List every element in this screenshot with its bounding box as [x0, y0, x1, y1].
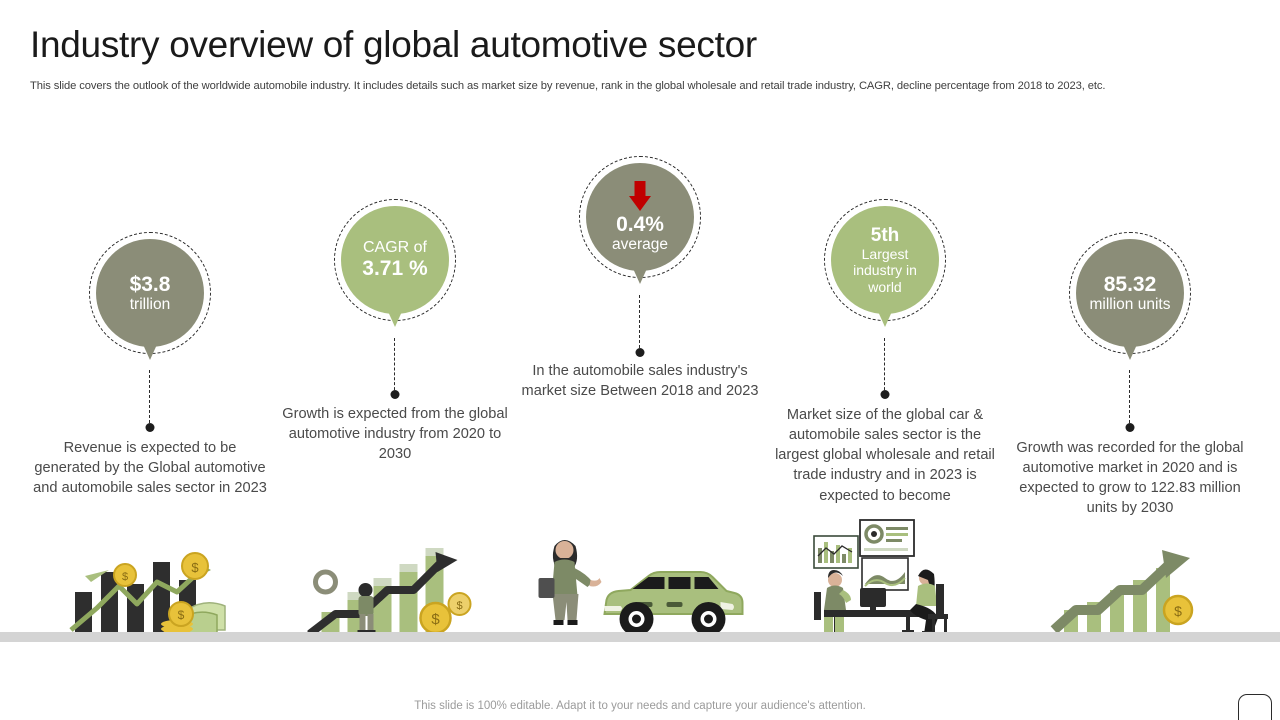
- balloon-value: 3.71 %: [362, 257, 427, 281]
- connector-units: [1129, 370, 1131, 428]
- svg-text:$: $: [456, 600, 462, 612]
- footer-note: This slide is 100% editable. Adapt it to…: [0, 700, 1280, 712]
- connector-dot-icon: [391, 390, 400, 399]
- corner-decoration-icon: [1238, 694, 1272, 720]
- balloon-unit: million units: [1087, 296, 1173, 313]
- connector-dot-icon: [881, 390, 890, 399]
- balloon-tail-icon: [141, 340, 159, 360]
- illustration-green-bar-chart-upward-arrow-coin-icon: $: [1050, 548, 1210, 639]
- connector-dot-icon: [1126, 423, 1135, 432]
- balloon-revenue-2023[interactable]: $3.8 trillion: [96, 239, 204, 347]
- balloon-unit: average: [612, 236, 668, 253]
- description-units: Growth was recorded for the global autom…: [1010, 438, 1250, 519]
- description-decline: In the automobile sales industry's marke…: [520, 361, 760, 401]
- connector-rank: [884, 338, 886, 395]
- column-decline-average: 0.4% average In the automobile sales ind…: [515, 0, 765, 720]
- balloon-tail-icon: [1121, 340, 1139, 360]
- connector-decline: [639, 295, 641, 353]
- balloon-unit: trillion: [130, 296, 170, 313]
- illustration-bar-chart-growth-money-icon: $ $ $: [65, 548, 235, 639]
- svg-text:$: $: [122, 571, 128, 583]
- description-revenue-2023: Revenue is expected to be generated by t…: [30, 438, 270, 498]
- slide-root: Industry overview of global automotive s…: [0, 0, 1280, 720]
- balloon-tail-icon: [876, 307, 894, 327]
- svg-text:$: $: [431, 611, 440, 628]
- description-rank: Market size of the global car & automobi…: [765, 405, 1005, 506]
- illustration-woman-with-green-car-icon: [533, 528, 748, 643]
- balloon-units[interactable]: 85.32 million units: [1076, 239, 1184, 347]
- connector-cagr: [394, 338, 396, 395]
- connector-dot-icon: [146, 423, 155, 432]
- balloon-tail-icon: [386, 307, 404, 327]
- column-revenue-2023: $3.8 trillion Revenue is expected to be …: [25, 0, 275, 720]
- svg-text:$: $: [191, 560, 199, 575]
- balloon-rank[interactable]: 5th Largest industry in world: [831, 206, 939, 314]
- column-cagr-2020-2030: CAGR of 3.71 % Growth is expected from t…: [270, 0, 520, 720]
- balloon-value: $3.8: [130, 273, 171, 297]
- column-units-85-32: 85.32 million units Growth was recorded …: [1005, 0, 1255, 720]
- balloon-unit: Largest industry in world: [839, 246, 931, 296]
- column-rank-5th: 5th Largest industry in world Market siz…: [760, 0, 1010, 720]
- red-down-arrow-icon: [627, 181, 653, 211]
- illustration-two-people-dashboard-meeting-icon: [810, 518, 960, 645]
- balloon-value: 0.4%: [616, 213, 664, 237]
- balloon-tail-icon: [631, 264, 649, 284]
- ground-bar: [0, 632, 1280, 642]
- balloon-value: 5th: [871, 225, 900, 246]
- svg-text:$: $: [1174, 603, 1182, 619]
- balloon-decline[interactable]: 0.4% average: [586, 163, 694, 271]
- balloon-cagr[interactable]: CAGR of 3.71 %: [341, 206, 449, 314]
- connector-dot-icon: [636, 348, 645, 357]
- svg-text:$: $: [178, 608, 185, 622]
- illustration-businessman-on-rising-bar-chart-icon: $ $: [308, 538, 483, 643]
- balloon-label: CAGR of: [363, 239, 427, 257]
- description-cagr: Growth is expected from the global autom…: [275, 404, 515, 464]
- balloon-value: 85.32: [1104, 273, 1157, 297]
- connector-revenue-2023: [149, 370, 151, 428]
